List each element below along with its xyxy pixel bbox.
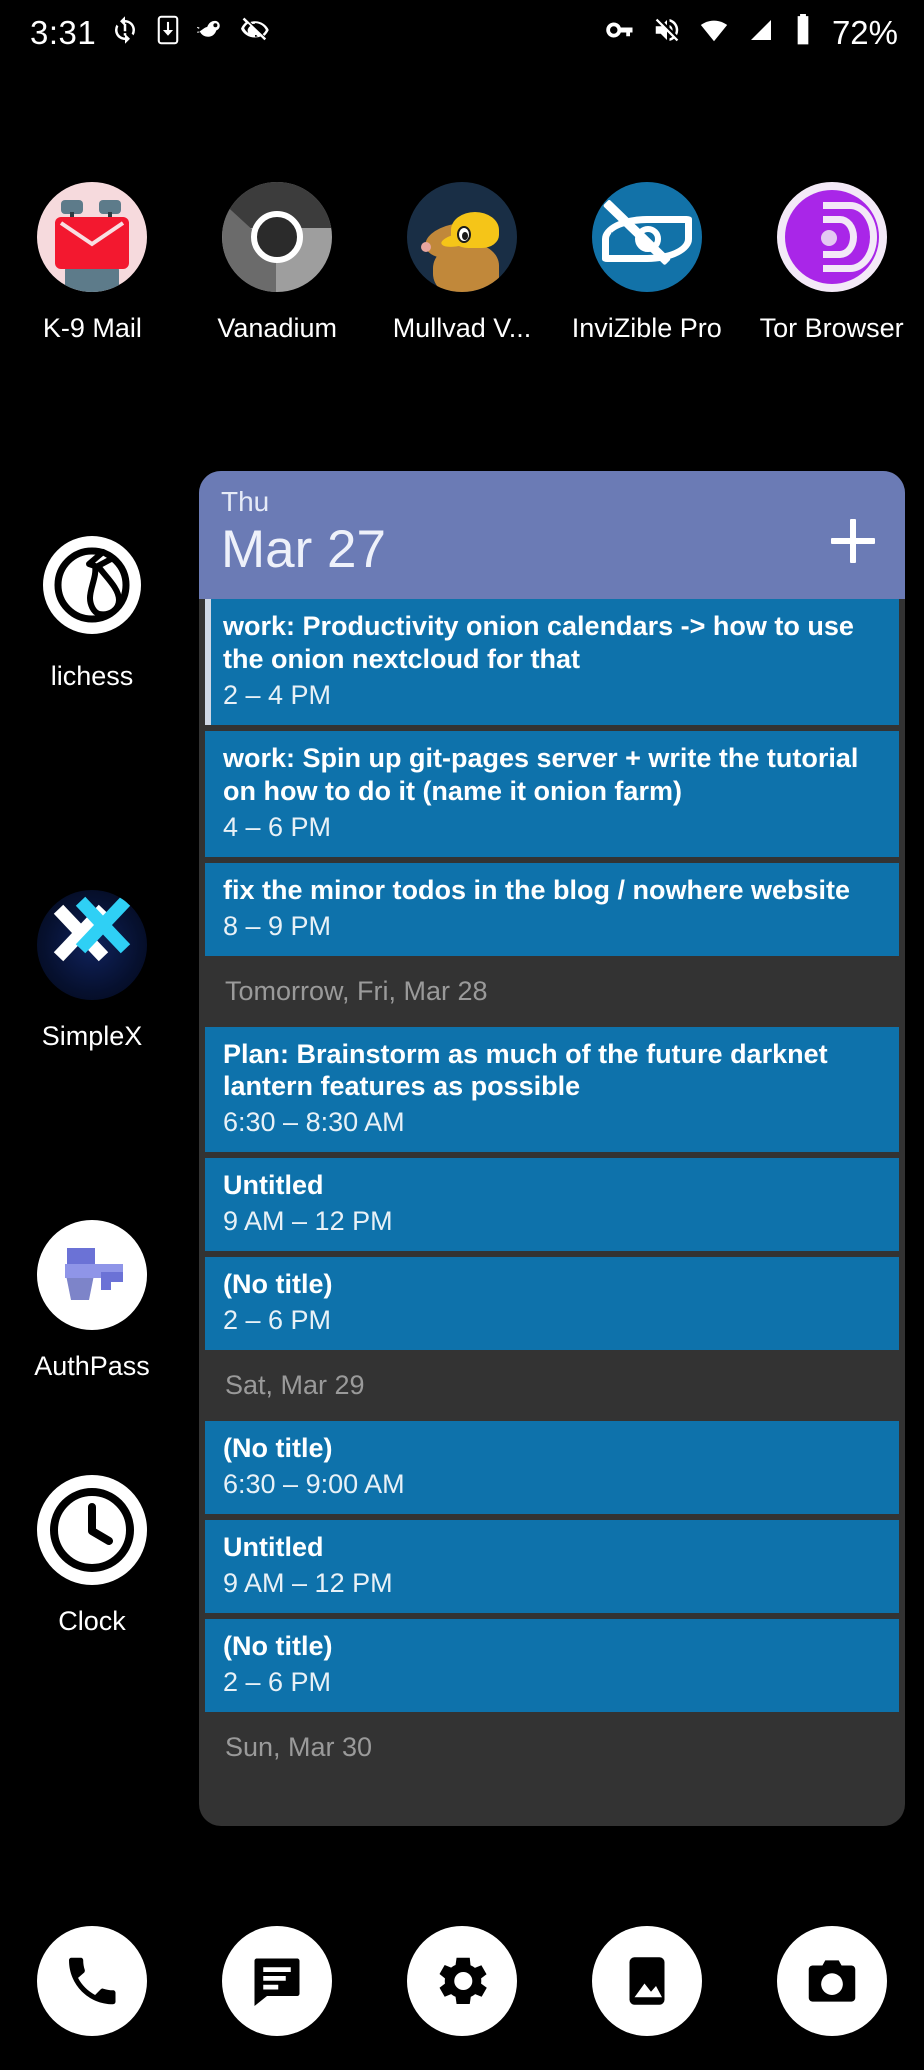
message-icon [222, 1926, 332, 2036]
app-k9-mail[interactable]: K-9 Mail [0, 182, 184, 344]
app-authpass[interactable]: AuthPass [0, 1220, 184, 1382]
status-bar-right: 72% [604, 14, 924, 51]
calendar-event[interactable]: (No title)2 – 6 PM [205, 1619, 899, 1712]
calendar-day-separator: Tomorrow, Fri, Mar 28 [205, 962, 899, 1021]
calendar-widget[interactable]: Thu Mar 27 work: Productivity onion cale… [199, 471, 905, 1826]
app-label: Clock [58, 1607, 126, 1637]
calendar-event-title: (No title) [223, 1630, 899, 1663]
calendar-event-title: (No title) [223, 1432, 899, 1465]
app-label: AuthPass [34, 1352, 150, 1382]
calendar-event-time: 4 – 6 PM [223, 811, 899, 844]
vpn-key-icon [604, 15, 636, 50]
calendar-event-time: 2 – 6 PM [223, 1304, 899, 1337]
phone-icon [37, 1926, 147, 2036]
mullvad-mole-icon [196, 15, 226, 50]
app-label: Mullvad V... [393, 314, 532, 344]
signal-cellular-icon [746, 15, 776, 50]
lichess-icon [37, 530, 147, 640]
mullvad-vpn-icon [407, 182, 517, 292]
vanadium-icon [222, 182, 332, 292]
calendar-event[interactable]: Untitled9 AM – 12 PM [205, 1520, 899, 1613]
calendar-day-separator: Sun, Mar 30 [205, 1718, 899, 1777]
calendar-event[interactable]: work: Spin up git-pages server + write t… [205, 731, 899, 857]
calendar-event-time: 2 – 6 PM [223, 1666, 899, 1699]
calendar-event-title: Untitled [223, 1531, 899, 1564]
app-simplex[interactable]: SimpleX [0, 890, 184, 1052]
status-bar: 3:31 [0, 0, 924, 64]
eye-off-icon [240, 15, 270, 50]
calendar-day-separator: Sat, Mar 29 [205, 1356, 899, 1415]
calendar-event-title: Untitled [223, 1169, 899, 1202]
calendar-event[interactable]: (No title)2 – 6 PM [205, 1257, 899, 1350]
authpass-icon [37, 1220, 147, 1330]
volume-off-icon [652, 15, 682, 50]
calendar-event-time: 6:30 – 9:00 AM [223, 1468, 899, 1501]
calendar-event-time: 9 AM – 12 PM [223, 1205, 899, 1238]
app-mullvad-vpn[interactable]: Mullvad V... [370, 182, 554, 344]
app-tor-browser[interactable]: Tor Browser [740, 182, 924, 344]
calendar-day-of-week: Thu [221, 487, 883, 518]
calendar-event-title: Plan: Brainstorm as much of the future d… [223, 1038, 899, 1104]
dock-item-phone[interactable] [0, 1926, 184, 2036]
calendar-event[interactable]: Untitled9 AM – 12 PM [205, 1158, 899, 1251]
calendar-event[interactable]: Plan: Brainstorm as much of the future d… [205, 1027, 899, 1153]
app-label: K-9 Mail [43, 314, 142, 344]
calendar-event[interactable]: (No title)6:30 – 9:00 AM [205, 1421, 899, 1514]
app-clock[interactable]: Clock [0, 1475, 184, 1637]
add-event-icon[interactable] [831, 519, 875, 563]
gear-icon [407, 1926, 517, 2036]
app-label: SimpleX [42, 1022, 143, 1052]
calendar-event-list[interactable]: work: Productivity onion calendars -> ho… [199, 599, 905, 1777]
invizible-pro-icon: FD [592, 182, 702, 292]
status-bar-left: 3:31 [0, 15, 270, 50]
calendar-widget-header[interactable]: Thu Mar 27 [199, 471, 905, 599]
battery-icon [792, 14, 814, 51]
calendar-event-time: 6:30 – 8:30 AM [223, 1106, 899, 1139]
simplex-icon [37, 890, 147, 1000]
calendar-event-time: 9 AM – 12 PM [223, 1567, 899, 1600]
app-lichess[interactable]: lichess [0, 530, 184, 692]
app-label: Vanadium [217, 314, 337, 344]
app-label: lichess [51, 662, 134, 692]
calendar-event-time: 8 – 9 PM [223, 910, 899, 943]
tor-browser-icon [777, 182, 887, 292]
photo-icon [592, 1926, 702, 2036]
calendar-event[interactable]: fix the minor todos in the blog / nowher… [205, 863, 899, 956]
calendar-event-title: work: Spin up git-pages server + write t… [223, 742, 899, 808]
dock-item-settings[interactable] [370, 1926, 554, 2036]
calendar-event[interactable]: work: Productivity onion calendars -> ho… [205, 599, 899, 725]
calendar-date: Mar 27 [221, 520, 883, 579]
dock-item-gallery[interactable] [555, 1926, 739, 2036]
calendar-event-title: fix the minor todos in the blog / nowher… [223, 874, 899, 907]
dock-item-messages[interactable] [185, 1926, 369, 2036]
dock-item-camera[interactable] [740, 1926, 924, 2036]
camera-icon [777, 1926, 887, 2036]
top-app-row: K-9 Mail Vanadium Mullvad V... FD [0, 182, 924, 344]
app-vanadium[interactable]: Vanadium [185, 182, 369, 344]
clock-icon [37, 1475, 147, 1585]
battery-percent-label: 72% [832, 16, 898, 49]
calendar-event-title: work: Productivity onion calendars -> ho… [223, 610, 899, 676]
app-label: InviZible Pro [572, 314, 722, 344]
home-screen: 3:31 [0, 0, 924, 2070]
dock [0, 1926, 924, 2036]
app-label: Tor Browser [760, 314, 904, 344]
k9-mail-icon [37, 182, 147, 292]
calendar-event-time: 2 – 4 PM [223, 679, 899, 712]
sync-problem-icon [110, 15, 140, 50]
calendar-event-title: (No title) [223, 1268, 899, 1301]
app-invizible-pro[interactable]: FD InviZible Pro [555, 182, 739, 344]
status-clock: 3:31 [30, 16, 96, 49]
wifi-icon [698, 15, 730, 50]
phone-download-icon [154, 15, 182, 50]
